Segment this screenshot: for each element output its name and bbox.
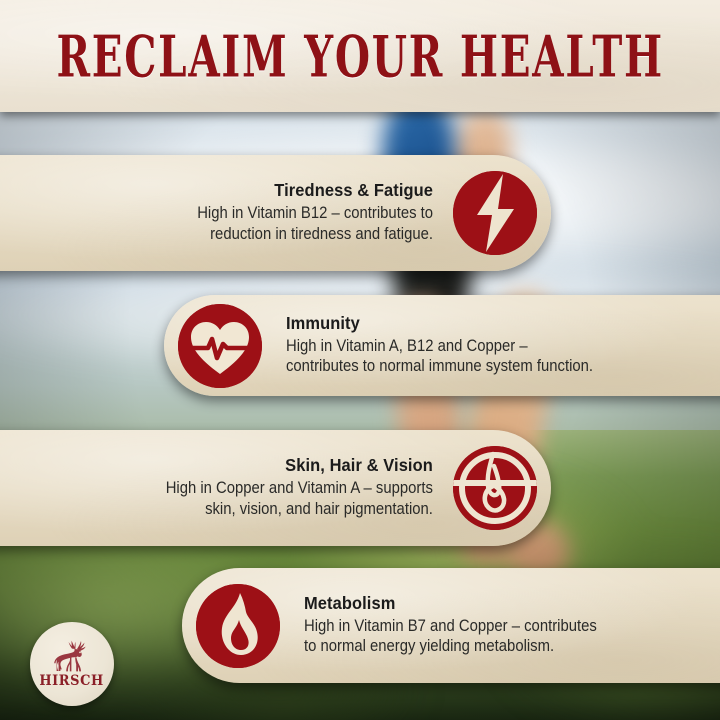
card-text-block: Skin, Hair & Vision High in Copper and V… (136, 456, 439, 519)
benefit-card-immunity: Immunity High in Vitamin A, B12 and Copp… (164, 295, 720, 396)
page-title: RECLAIM YOUR HEALTH (56, 23, 663, 90)
card-text-block: Tiredness & Fatigue High in Vitamin B12 … (171, 181, 439, 244)
card-title: Immunity (286, 314, 607, 333)
card-title: Tiredness & Fatigue (187, 181, 433, 200)
infographic-poster: RECLAIM YOUR HEALTH Tiredness & Fatigue … (0, 0, 720, 720)
benefit-card-metabolism: Metabolism High in Vitamin B7 and Copper… (182, 568, 720, 683)
card-title: Skin, Hair & Vision (154, 456, 433, 475)
logo-wordmark: HIRSCH (40, 675, 104, 689)
brand-logo: HIRSCH (30, 622, 114, 706)
lightning-bolt-icon (453, 171, 537, 255)
flame-icon (196, 584, 280, 668)
card-text-block: Metabolism High in Vitamin B7 and Copper… (296, 594, 629, 657)
card-description: High in Vitamin B12 – contributes to red… (197, 203, 433, 245)
card-text-block: Immunity High in Vitamin A, B12 and Copp… (278, 314, 627, 377)
heart-pulse-icon (178, 304, 262, 388)
card-description: High in Vitamin B7 and Copper – contribu… (304, 616, 597, 658)
card-description: High in Copper and Vitamin A – supports … (166, 478, 433, 520)
card-description: High in Vitamin A, B12 and Copper – cont… (286, 336, 593, 378)
benefit-card-skin-hair-vision: Skin, Hair & Vision High in Copper and V… (0, 430, 551, 546)
hair-follicle-icon (453, 446, 537, 530)
card-title: Metabolism (304, 594, 610, 613)
benefit-card-tiredness-fatigue: Tiredness & Fatigue High in Vitamin B12 … (0, 155, 551, 271)
header-banner: RECLAIM YOUR HEALTH (0, 0, 720, 112)
stag-deer-icon (50, 640, 94, 674)
